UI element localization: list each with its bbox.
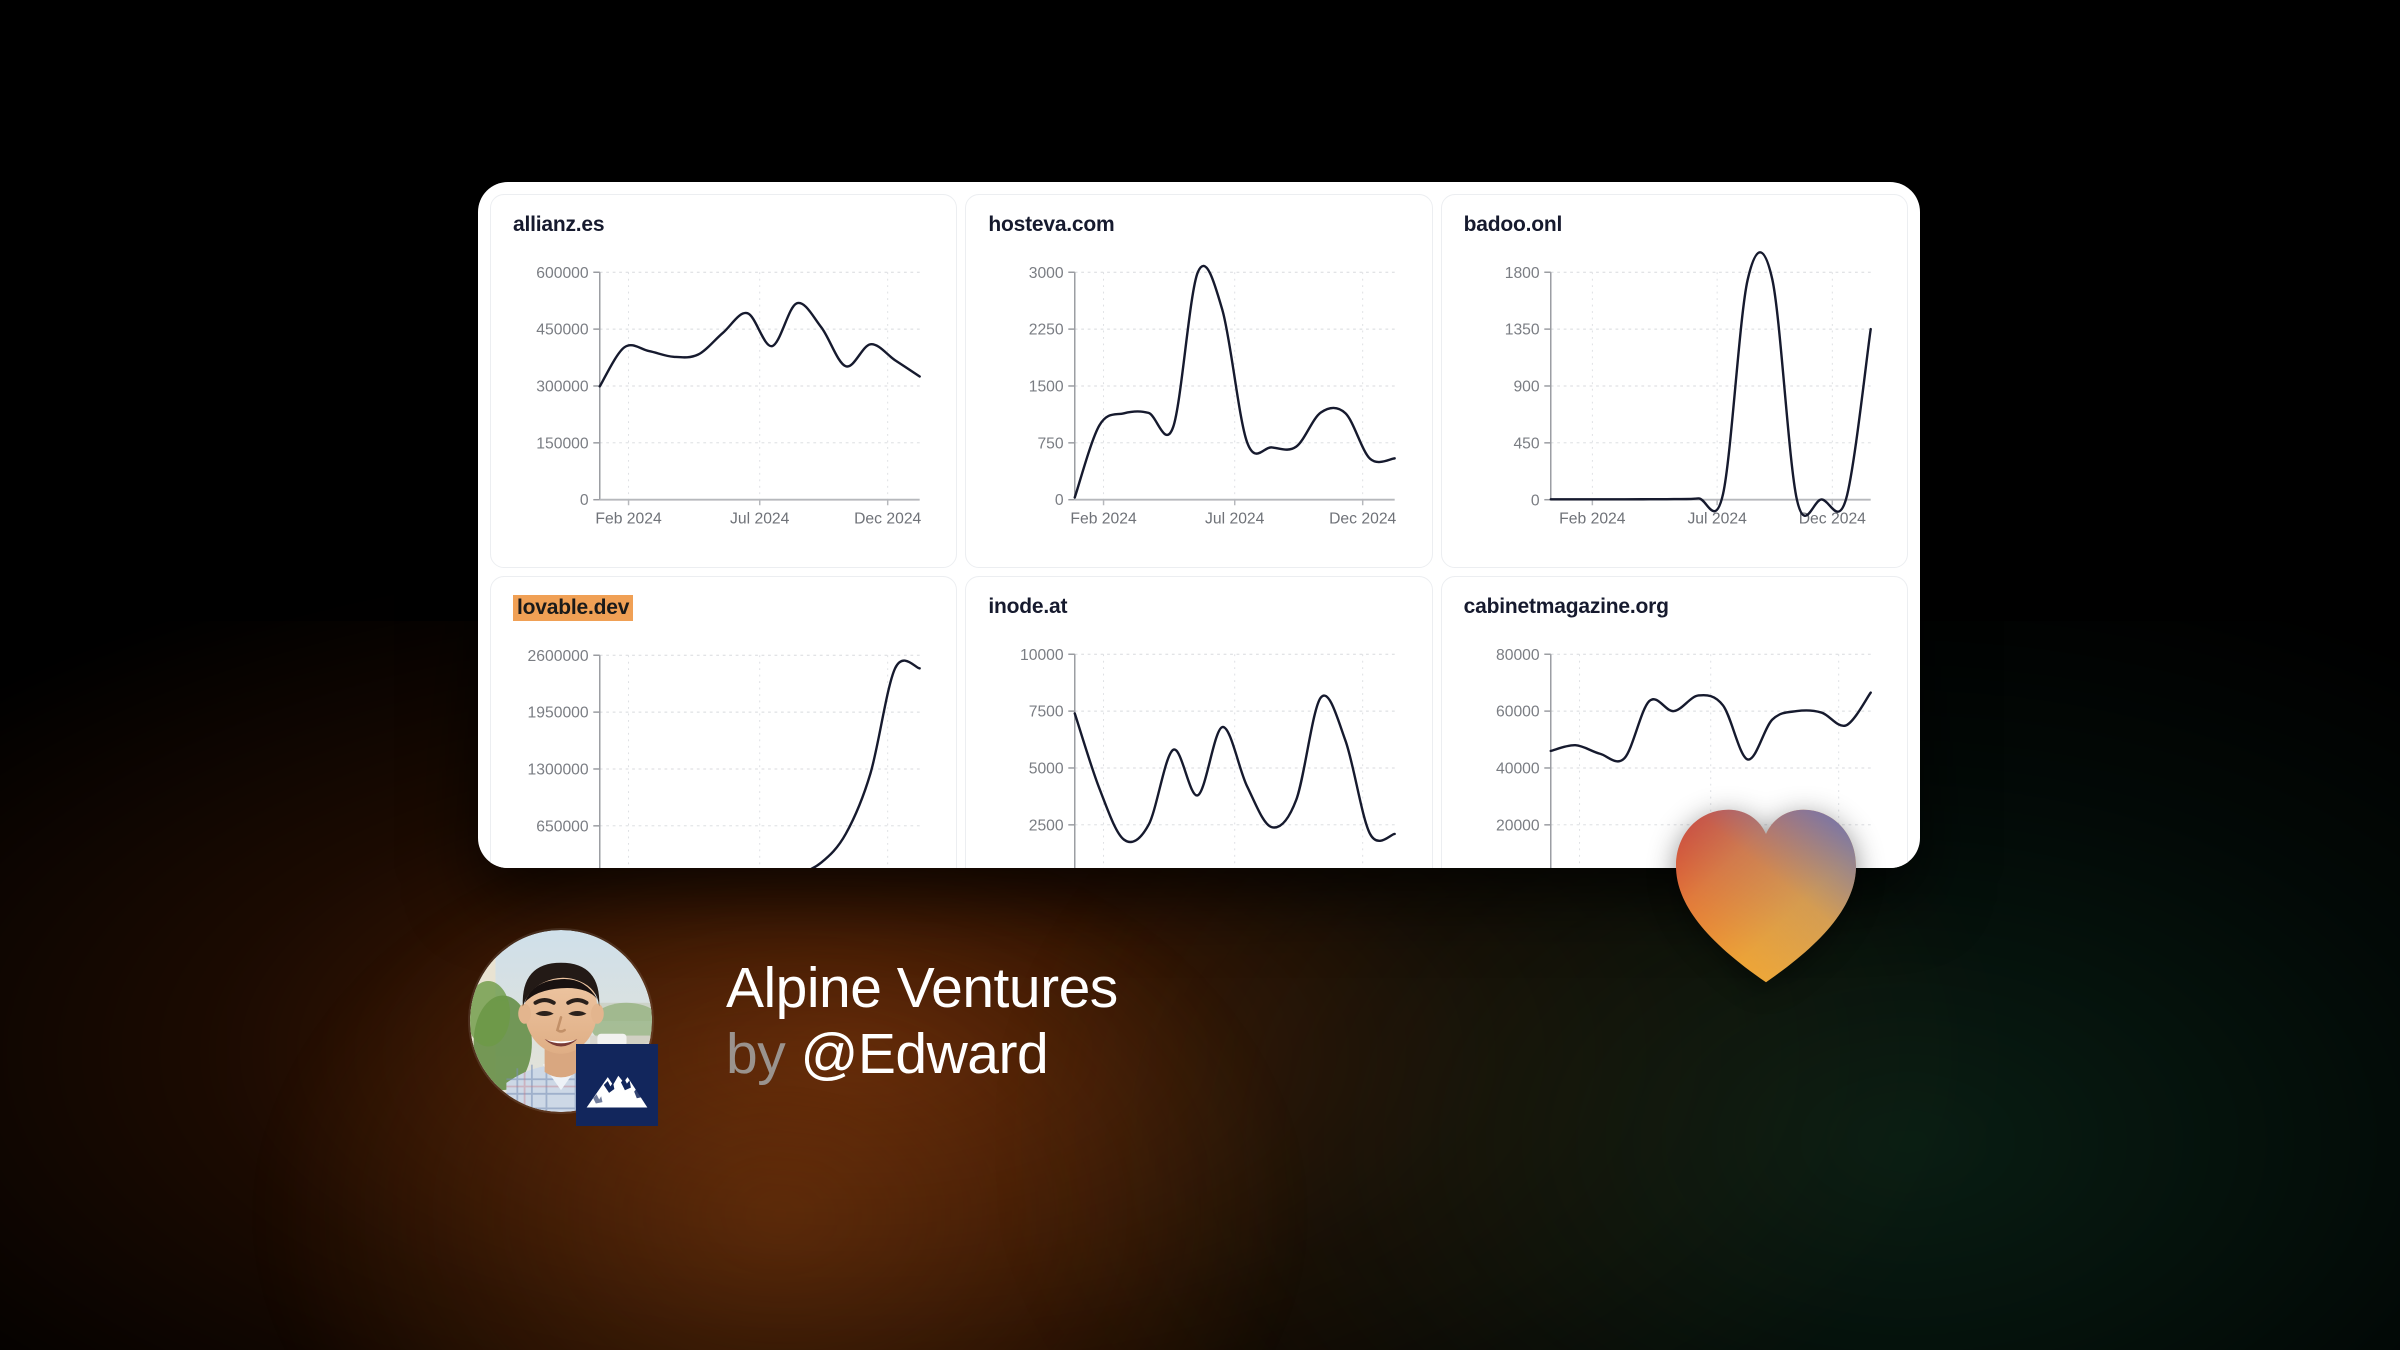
- svg-text:60000: 60000: [1496, 704, 1540, 721]
- svg-text:650000: 650000: [536, 818, 589, 835]
- page-title: Alpine Ventures: [726, 959, 1118, 1017]
- mountain-badge-icon: [576, 1044, 658, 1126]
- svg-text:40000: 40000: [1496, 761, 1540, 778]
- svg-text:0: 0: [1055, 492, 1064, 509]
- chart-card[interactable]: badoo.onl045090013501800Feb 2024Jul 2024…: [1441, 194, 1908, 568]
- chart-card[interactable]: hosteva.com0750150022503000Feb 2024Jul 2…: [965, 194, 1432, 568]
- svg-text:150000: 150000: [536, 435, 589, 452]
- branding-footer: Alpine Ventures by @Edward: [470, 930, 1118, 1112]
- svg-text:Feb 2024: Feb 2024: [1559, 511, 1626, 528]
- svg-text:0: 0: [580, 492, 589, 509]
- chart-grid: allianz.es0150000300000450000600000Feb 2…: [478, 182, 1920, 868]
- svg-text:Dec 2024: Dec 2024: [1329, 511, 1396, 528]
- svg-text:2500: 2500: [1029, 817, 1064, 834]
- chart-title: badoo.onl: [1464, 213, 1563, 237]
- chart-plot: 25005000750010000Feb 2024Jul 2024Dec 202…: [986, 621, 1411, 868]
- dashboard-window: allianz.es0150000300000450000600000Feb 2…: [478, 182, 1920, 868]
- svg-text:0: 0: [1531, 492, 1540, 509]
- chart-plot: 0750150022503000Feb 2024Jul 2024Dec 2024: [986, 239, 1411, 557]
- chart-title: allianz.es: [513, 213, 604, 237]
- brand-by-label: by: [726, 1022, 785, 1086]
- chart-title: hosteva.com: [988, 213, 1114, 237]
- svg-text:1300000: 1300000: [528, 762, 589, 779]
- svg-text:Feb 2024: Feb 2024: [595, 511, 662, 528]
- svg-text:750: 750: [1038, 435, 1064, 452]
- svg-text:450000: 450000: [536, 322, 589, 339]
- chart-title: lovable.dev: [513, 595, 633, 621]
- svg-text:1500: 1500: [1029, 379, 1064, 396]
- chart-card[interactable]: inode.at25005000750010000Feb 2024Jul 202…: [965, 576, 1432, 868]
- svg-text:450: 450: [1513, 435, 1539, 452]
- brand-text-block: Alpine Ventures by @Edward: [726, 959, 1118, 1083]
- svg-text:1800: 1800: [1504, 265, 1539, 282]
- svg-text:20000: 20000: [1496, 817, 1540, 834]
- svg-text:80000: 80000: [1496, 647, 1540, 664]
- svg-text:1950000: 1950000: [528, 705, 589, 722]
- svg-text:1350: 1350: [1504, 322, 1539, 339]
- svg-text:2250: 2250: [1029, 322, 1064, 339]
- chart-title: cabinetmagazine.org: [1464, 595, 1669, 619]
- chart-card[interactable]: allianz.es0150000300000450000600000Feb 2…: [490, 194, 957, 568]
- chart-title: inode.at: [988, 595, 1067, 619]
- svg-text:600000: 600000: [536, 265, 589, 282]
- svg-text:Jul 2024: Jul 2024: [730, 511, 790, 528]
- gradient-heart-icon: [1672, 806, 1860, 986]
- brand-handle: @Edward: [801, 1022, 1049, 1086]
- svg-text:7500: 7500: [1029, 704, 1064, 721]
- svg-text:Dec 2024: Dec 2024: [854, 511, 921, 528]
- svg-text:2600000: 2600000: [528, 648, 589, 665]
- svg-text:Feb 2024: Feb 2024: [1071, 511, 1138, 528]
- chart-plot: 045090013501800Feb 2024Jul 2024Dec 2024: [1462, 239, 1887, 557]
- svg-text:10000: 10000: [1020, 647, 1064, 664]
- brand-subtitle: by @Edward: [726, 1025, 1118, 1083]
- chart-card[interactable]: lovable.dev650000130000019500002600000Fe…: [490, 576, 957, 868]
- svg-text:3000: 3000: [1029, 265, 1064, 282]
- svg-text:Jul 2024: Jul 2024: [1205, 511, 1265, 528]
- svg-text:900: 900: [1513, 379, 1539, 396]
- chart-plot: 650000130000019500002600000Feb 2024Jul 2…: [511, 623, 936, 868]
- svg-text:Jul 2024: Jul 2024: [1687, 511, 1747, 528]
- chart-plot: 0150000300000450000600000Feb 2024Jul 202…: [511, 239, 936, 557]
- svg-text:300000: 300000: [536, 379, 589, 396]
- svg-text:5000: 5000: [1029, 761, 1064, 778]
- avatar-container: [470, 930, 652, 1112]
